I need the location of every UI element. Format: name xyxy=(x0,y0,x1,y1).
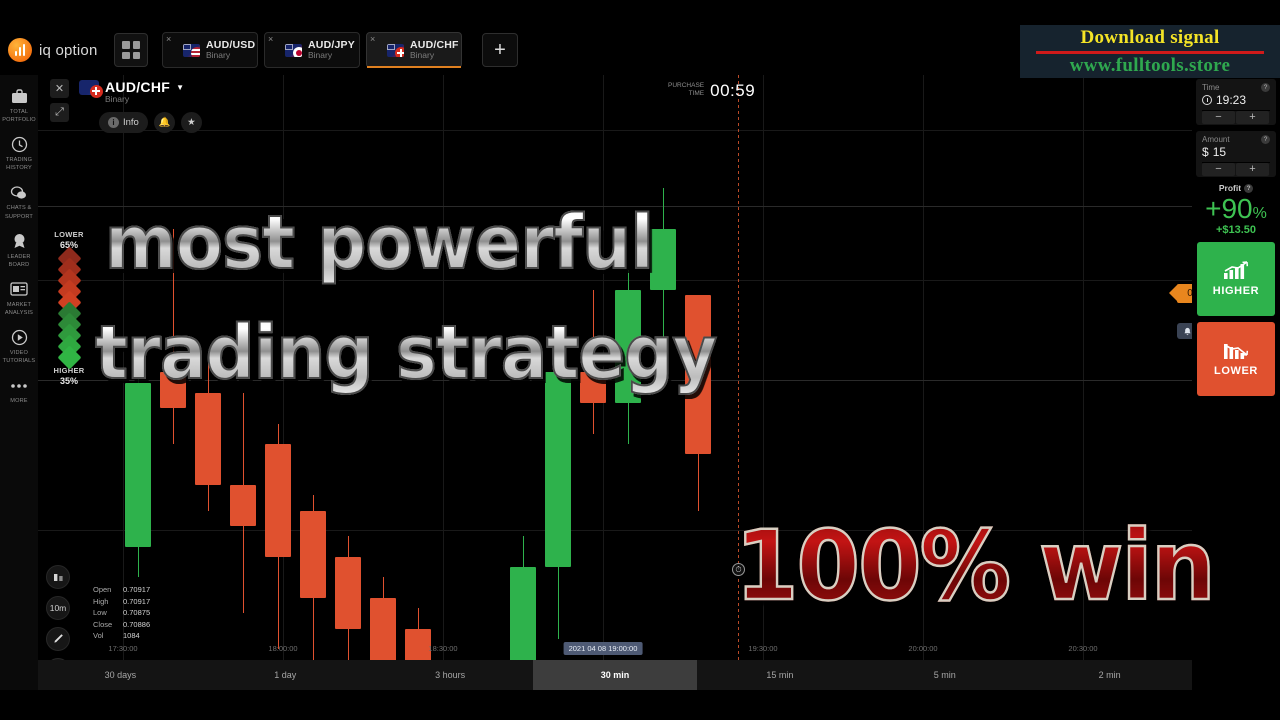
candle-type-icon[interactable] xyxy=(46,565,70,589)
time-axis-label: 17:30:00 xyxy=(108,644,137,653)
timeframe-option-30-min[interactable]: 30 min xyxy=(533,660,698,690)
tab-aud-jpy[interactable]: × AUD/JPY Binary xyxy=(264,32,360,68)
sidebar-item-label: TOTAL PORTFOLIO xyxy=(0,108,38,124)
sentiment-gauge: LOWER 65% HIGHER 35% xyxy=(48,230,90,386)
amount-increment-button[interactable]: + xyxy=(1236,163,1269,176)
timeframe-option-30-days[interactable]: 30 days xyxy=(38,660,203,690)
candle-body xyxy=(650,229,676,291)
current-time-marker[interactable]: ⏱ xyxy=(732,563,745,576)
time-axis-label: 18:00:00 xyxy=(268,644,297,653)
medal-icon xyxy=(0,232,38,251)
grid-line xyxy=(923,75,924,690)
close-icon[interactable]: × xyxy=(370,35,375,44)
expand-icon[interactable]: ⤢ xyxy=(50,103,69,122)
help-icon[interactable]: ? xyxy=(1244,184,1253,193)
candlestick xyxy=(230,75,256,690)
purchase-time-value: 00:59 xyxy=(710,81,755,101)
time-field-label: Time xyxy=(1202,83,1219,92)
close-icon[interactable]: ✕ xyxy=(50,79,69,98)
timeframe-option-1-day[interactable]: 1 day xyxy=(203,660,368,690)
candlestick xyxy=(475,75,501,690)
candlestick xyxy=(335,75,361,690)
current-time-line xyxy=(738,75,739,690)
grid-line xyxy=(1083,75,1084,690)
candlestick xyxy=(300,75,326,690)
asset-tabs: × AUD/USD Binary × AUD/JPY Binary × xyxy=(162,32,462,68)
help-icon[interactable]: ? xyxy=(1261,135,1270,144)
timeframe-option-5-min[interactable]: 5 min xyxy=(862,660,1027,690)
amount-field-label: Amount xyxy=(1202,135,1230,144)
clock-icon xyxy=(0,135,38,154)
sidebar-item-label: MARKET ANALYSIS xyxy=(0,301,38,317)
sentiment-lower-pct: 35% xyxy=(48,376,90,386)
candle-body xyxy=(265,444,291,557)
candlestick xyxy=(545,75,571,690)
time-increment-button[interactable]: + xyxy=(1236,111,1269,124)
higher-button-label: HIGHER xyxy=(1213,285,1259,297)
candle-body xyxy=(230,485,256,526)
close-icon[interactable]: × xyxy=(166,35,171,44)
profit-percent-unit: % xyxy=(1253,205,1267,222)
chart-down-icon xyxy=(1223,341,1249,360)
news-icon xyxy=(0,280,38,299)
star-icon[interactable]: ★ xyxy=(181,112,202,133)
time-axis-label: 20:00:00 xyxy=(908,644,937,653)
ohlc-key: Open xyxy=(93,584,123,596)
candle-body xyxy=(615,290,641,403)
brand-logo-area[interactable]: iq option xyxy=(8,38,104,62)
profit-block: Profit ? +90% +$13.50 xyxy=(1196,183,1276,236)
candle-body xyxy=(685,295,711,454)
sidebar-item-total-portfolio[interactable]: TOTAL PORTFOLIO xyxy=(0,81,38,129)
candle-body xyxy=(335,557,361,629)
candlestick xyxy=(265,75,291,690)
trading-platform-screen: iq option × AUD/USD Binary × AUD/JPY Bin… xyxy=(0,0,1280,720)
letterbox-top xyxy=(0,0,1280,25)
amount-field: Amount ? $ 15 − + xyxy=(1196,131,1276,177)
time-field-value: 19:23 xyxy=(1216,93,1246,107)
chart-canvas[interactable]: 0.7095 0.7090 ✕ ⤢ AUD/CHF ▼ Binary i Inf… xyxy=(38,75,1280,690)
amount-field-value-row[interactable]: $ 15 xyxy=(1202,145,1270,159)
briefcase-icon xyxy=(0,87,38,106)
tab-sublabel: Binary xyxy=(410,51,459,61)
candle-body xyxy=(160,372,186,408)
purchase-timer: PURCHASE TIME 00:59 xyxy=(668,81,755,101)
candle-body xyxy=(545,372,571,567)
play-circle-icon xyxy=(0,328,38,347)
candlestick xyxy=(615,75,641,690)
timeframe-button[interactable]: 10m xyxy=(46,596,70,620)
flag-icon xyxy=(387,44,404,57)
time-decrement-button[interactable]: − xyxy=(1202,111,1235,124)
sidebar-item-label: VIDEO TUTORIALS xyxy=(0,349,38,365)
tab-sublabel: Binary xyxy=(206,51,255,61)
grid-view-icon[interactable] xyxy=(114,33,148,67)
sentiment-diamonds xyxy=(48,253,90,363)
tab-sublabel: Binary xyxy=(308,51,355,61)
asset-header: ✕ ⤢ AUD/CHF ▼ Binary i Info 🔔 ★ xyxy=(50,79,202,133)
flag-icon xyxy=(79,80,99,95)
ohlc-value: 1084 xyxy=(123,631,140,640)
sidebar-item-label: CHATS & SUPPORT xyxy=(0,204,38,220)
candle-body xyxy=(580,372,606,403)
chart-up-icon xyxy=(1223,261,1249,280)
sidebar-item-video-tutorials[interactable]: VIDEO TUTORIALS xyxy=(0,322,38,370)
flag-icon xyxy=(183,44,200,57)
sidebar-item-trading-history[interactable]: TRADING HISTORY xyxy=(0,129,38,177)
time-axis-label: 20:30:00 xyxy=(1068,644,1097,653)
lower-button-label: LOWER xyxy=(1214,365,1258,377)
tab-aud-chf[interactable]: × AUD/CHF Binary xyxy=(366,32,462,68)
ohlc-readout: Open0.70917 High0.70917 Low0.70875 Close… xyxy=(93,584,150,642)
candlestick xyxy=(370,75,396,690)
promo-banner-url: www.fulltools.store xyxy=(1020,55,1280,77)
sentiment-upper-label: LOWER xyxy=(48,230,90,239)
purchase-label-line2: TIME xyxy=(668,90,704,98)
candle-wick xyxy=(593,290,594,434)
trade-panel: Time ? 19:23 − + Amount ? $ 15 − xyxy=(1192,75,1280,690)
ohlc-key: High xyxy=(93,596,123,608)
chat-bubble-icon xyxy=(0,183,38,202)
ohlc-value: 0.70917 xyxy=(123,585,150,594)
sidebar-item-chats-support[interactable]: CHATS & SUPPORT xyxy=(0,177,38,225)
brand-name: iq option xyxy=(39,42,98,59)
candlestick xyxy=(580,75,606,690)
ohlc-value: 0.70917 xyxy=(123,597,150,606)
ellipsis-icon xyxy=(0,376,38,395)
lower-button[interactable]: LOWER xyxy=(1197,322,1275,396)
time-field: Time ? 19:23 − + xyxy=(1196,79,1276,125)
candlestick xyxy=(440,75,466,690)
sidebar-item-label: LEADER BOARD xyxy=(0,253,38,269)
timeframe-option-2-min[interactable]: 2 min xyxy=(1027,660,1192,690)
candlestick xyxy=(405,75,431,690)
promo-banner-title: Download signal xyxy=(1020,27,1280,50)
candlestick xyxy=(650,75,676,690)
bell-icon[interactable]: 🔔 xyxy=(154,112,175,133)
promo-banner-rule xyxy=(1036,51,1264,54)
timeframe-option-15-min[interactable]: 15 min xyxy=(697,660,862,690)
close-icon[interactable]: × xyxy=(268,35,273,44)
amount-decrement-button[interactable]: − xyxy=(1202,163,1235,176)
candlestick xyxy=(510,75,536,690)
ohlc-key: Close xyxy=(93,619,123,631)
grid-line xyxy=(763,75,764,690)
ohlc-key: Vol xyxy=(93,630,123,642)
time-field-value-row[interactable]: 19:23 xyxy=(1202,93,1270,107)
time-axis-label: 18:30:00 xyxy=(428,644,457,653)
timeframe-option-3-hours[interactable]: 3 hours xyxy=(368,660,533,690)
candle-body xyxy=(125,383,151,547)
sidebar-item-leader-board[interactable]: LEADER BOARD xyxy=(0,226,38,274)
ohlc-value: 0.70875 xyxy=(123,608,150,617)
add-tab-button[interactable]: + xyxy=(482,33,518,67)
left-sidebar: TOTAL PORTFOLIO TRADING HISTORY CHATS & … xyxy=(0,75,38,690)
amount-field-value: 15 xyxy=(1213,145,1226,159)
iq-logo-icon xyxy=(8,38,32,62)
sidebar-item-market-analysis[interactable]: MARKET ANALYSIS xyxy=(0,274,38,322)
timeframe-bar: 30 days 1 day 3 hours 30 min 15 min 5 mi… xyxy=(38,660,1192,690)
sidebar-item-label: TRADING HISTORY xyxy=(0,156,38,172)
clock-icon xyxy=(1202,95,1212,105)
purchase-label-line1: PURCHASE xyxy=(668,82,704,90)
candlestick xyxy=(195,75,221,690)
sidebar-item-label: MORE xyxy=(0,397,38,405)
tab-aud-usd[interactable]: × AUD/USD Binary xyxy=(162,32,258,68)
time-axis-current-label: 2021 04 08 19:00:00 xyxy=(564,642,643,655)
time-axis: 17:30:00 18:00:00 18:30:00 2021 04 08 19… xyxy=(38,642,1280,660)
candle-body xyxy=(195,393,221,485)
asset-type: Binary xyxy=(105,94,202,104)
flag-icon xyxy=(285,44,302,57)
candle-body xyxy=(300,511,326,598)
ohlc-key: Low xyxy=(93,607,123,619)
info-icon: i xyxy=(108,117,119,128)
asset-name[interactable]: AUD/CHF xyxy=(105,79,170,95)
chevron-down-icon[interactable]: ▼ xyxy=(176,83,184,92)
time-axis-label: 19:30:00 xyxy=(748,644,777,653)
help-icon[interactable]: ? xyxy=(1261,83,1270,92)
candlestick xyxy=(160,75,186,690)
candle-wick xyxy=(173,229,174,444)
sidebar-item-more[interactable]: MORE xyxy=(0,370,38,410)
ohlc-value: 0.70886 xyxy=(123,620,150,629)
profit-percent: +90 xyxy=(1205,193,1253,224)
higher-button[interactable]: HIGHER xyxy=(1197,242,1275,316)
promo-banner[interactable]: Download signal www.fulltools.store xyxy=(1020,25,1280,78)
candlestick xyxy=(685,75,711,690)
info-button[interactable]: i Info xyxy=(99,112,148,133)
profit-amount: +$13.50 xyxy=(1196,224,1276,236)
currency-symbol: $ xyxy=(1202,145,1209,159)
letterbox-bottom xyxy=(0,690,1280,720)
info-label: Info xyxy=(123,117,139,128)
profit-label: Profit xyxy=(1219,183,1241,193)
